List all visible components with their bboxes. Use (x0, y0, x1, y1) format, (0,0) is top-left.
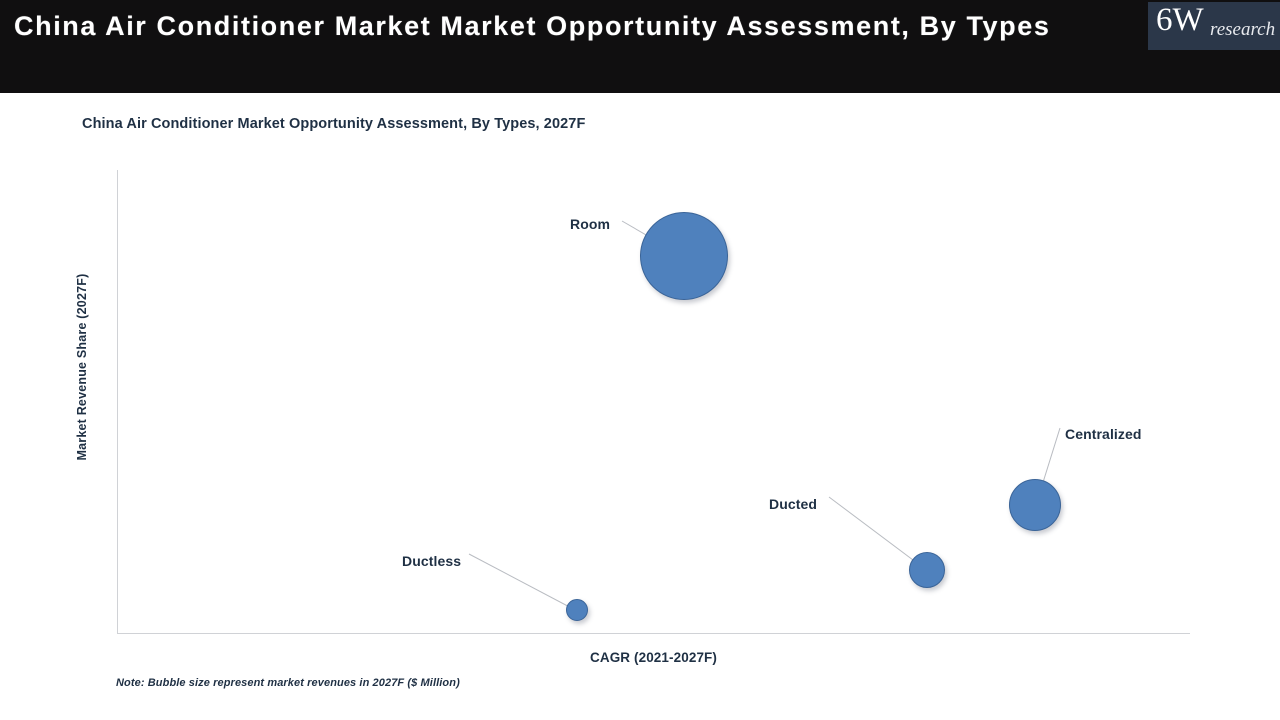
x-axis-label: CAGR (2021-2027F) (117, 650, 1190, 665)
bubble-label-centralized: Centralized (1065, 426, 1142, 442)
bubble-label-ducted: Ducted (769, 496, 817, 512)
page-title: China Air Conditioner Market Market Oppo… (14, 7, 1114, 45)
brand-logo[interactable]: 6W research (1148, 2, 1280, 50)
logo-word-text: research (1210, 18, 1275, 42)
y-axis-line (117, 170, 118, 634)
leader-line-ducted (829, 497, 929, 572)
chart-note: Note: Bubble size represent market reven… (116, 677, 460, 689)
bubble-label-ductless: Ductless (402, 553, 461, 569)
bubble-ducted[interactable] (909, 552, 945, 588)
y-axis-label: Market Revenue Share (2027F) (75, 237, 89, 497)
leader-line-room (622, 221, 686, 258)
leader-line-ductless (469, 554, 579, 612)
bubble-ductless[interactable] (566, 599, 588, 621)
leader-lines (0, 0, 1280, 720)
bubble-label-room: Room (570, 216, 610, 232)
bubble-centralized[interactable] (1009, 479, 1061, 531)
leader-line-centralized (1035, 428, 1060, 508)
logo-mark-text: 6W (1156, 2, 1204, 40)
x-axis-line (117, 633, 1190, 634)
bubble-room[interactable] (640, 212, 728, 300)
chart-title: China Air Conditioner Market Opportunity… (82, 116, 585, 132)
page-header: China Air Conditioner Market Market Oppo… (0, 0, 1280, 93)
bubble-chart: Market Revenue Share (2027F) CAGR (2021-… (0, 0, 1280, 720)
